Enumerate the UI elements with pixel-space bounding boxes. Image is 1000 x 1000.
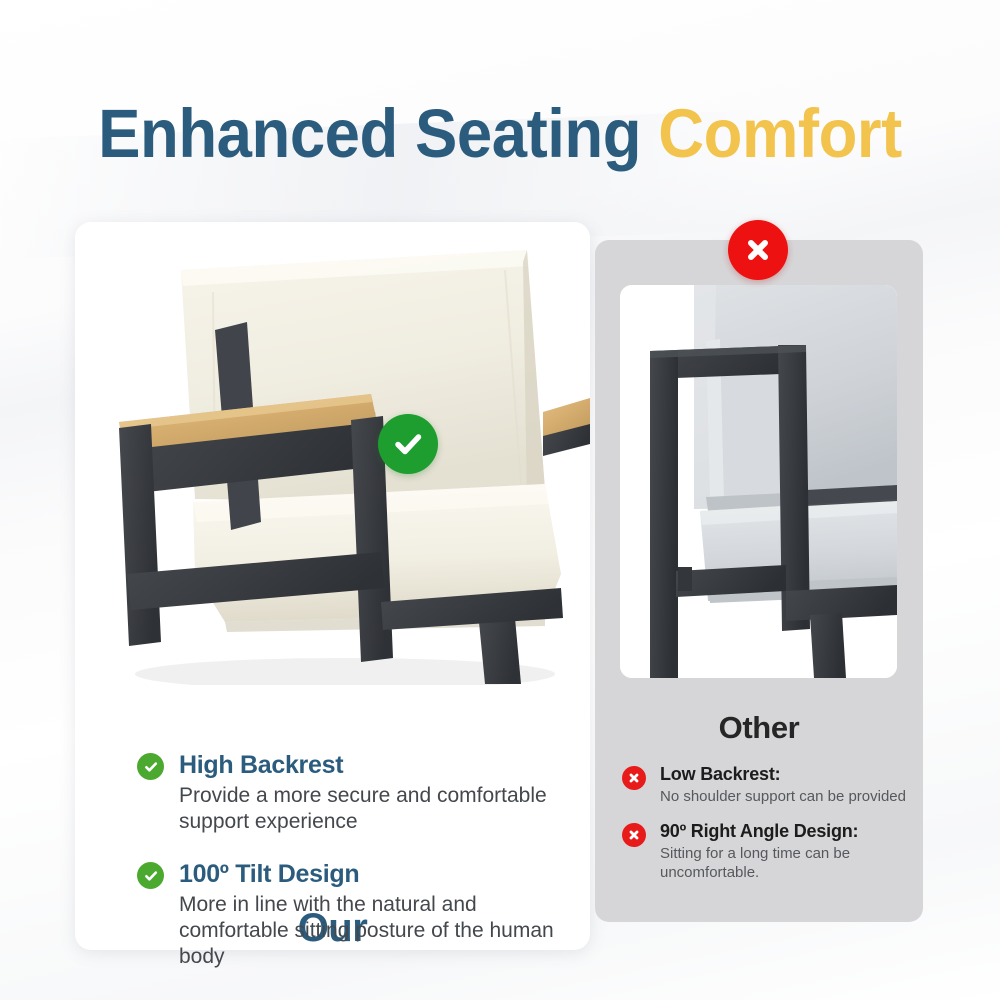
- comparison-card-other: Other Low Backrest: No shoulder support …: [595, 240, 923, 922]
- page-title-accent: Comfort: [658, 95, 902, 172]
- check-icon: [391, 427, 425, 461]
- comparison-infographic: Enhanced Seating Comfort: [0, 0, 1000, 1000]
- our-feature-list: High Backrest Provide a more secure and …: [137, 750, 567, 994]
- other-chair-illustration: [620, 285, 897, 678]
- other-chair-image: [620, 285, 897, 678]
- feature-title: Low Backrest:: [660, 763, 914, 786]
- feature-title: 90º Right Angle Design:: [660, 820, 914, 843]
- feature-description: More in line with the natural and comfor…: [179, 892, 567, 970]
- x-circle-icon: [622, 766, 646, 790]
- approved-badge: [378, 414, 438, 474]
- feature-description: Provide a more secure and comfortable su…: [179, 783, 567, 835]
- our-chair-image: [75, 222, 590, 685]
- feature-title: High Backrest: [179, 750, 567, 780]
- feature-description: No shoulder support can be provided: [660, 787, 914, 806]
- feature-description: Sitting for a long time can be uncomfort…: [660, 844, 914, 882]
- page-title: Enhanced Seating Comfort: [40, 96, 960, 172]
- check-circle-icon: [137, 862, 164, 889]
- our-chair-illustration: [75, 222, 590, 685]
- check-circle-icon: [137, 753, 164, 780]
- feature-item: 90º Right Angle Design: Sitting for a lo…: [622, 820, 914, 882]
- feature-item: 100º Tilt Design More in line with the n…: [137, 859, 567, 970]
- other-column-title: Other: [595, 710, 923, 746]
- feature-title: 100º Tilt Design: [179, 859, 567, 889]
- feature-item: High Backrest Provide a more secure and …: [137, 750, 567, 835]
- feature-item: Low Backrest: No shoulder support can be…: [622, 763, 914, 806]
- x-circle-icon: [622, 823, 646, 847]
- comparison-card-our: Our High Backrest Provide a more secure …: [75, 222, 590, 950]
- x-icon: [742, 234, 774, 266]
- rejected-badge: [728, 220, 788, 280]
- other-feature-list: Low Backrest: No shoulder support can be…: [622, 763, 914, 896]
- page-title-primary: Enhanced Seating: [98, 95, 658, 172]
